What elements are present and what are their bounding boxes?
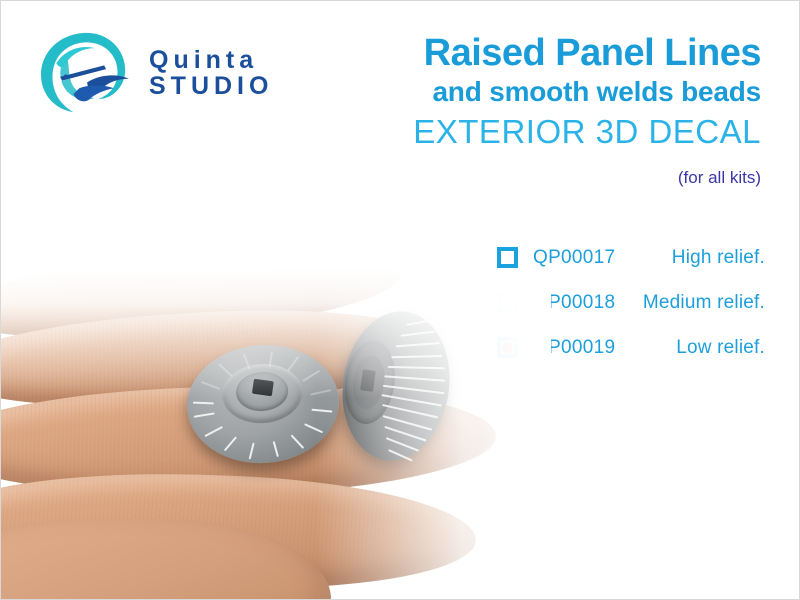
variant-checkbox[interactable]	[497, 292, 518, 313]
quinta-q-swoosh-logo	[37, 29, 133, 117]
brand-logo: Quinta STUDIO	[37, 29, 273, 117]
brand-line-1: Quinta	[149, 47, 273, 73]
product-relief-label: High relief.	[628, 247, 765, 269]
title-line-3: EXTERIOR 3D DECAL	[413, 109, 761, 155]
variant-checkbox-selected[interactable]	[497, 337, 518, 358]
brand-line-2: STUDIO	[149, 73, 273, 99]
wheel-flat-light-grey	[183, 340, 343, 468]
product-variant-list: QP00017 High relief. QP00018 Medium reli…	[497, 244, 765, 379]
title-line-2: and smooth welds beads	[413, 75, 761, 109]
product-code: QP00017	[533, 247, 628, 269]
product-relief-label: Low relief.	[628, 337, 765, 359]
product-row[interactable]: QP00018 Medium relief.	[497, 289, 765, 316]
product-code: QP00019	[533, 337, 628, 359]
product-code: QP00018	[533, 292, 628, 314]
product-card: Quinta STUDIO Raised Panel Lines and smo…	[0, 0, 800, 600]
headings-block: Raised Panel Lines and smooth welds bead…	[413, 31, 761, 189]
brand-wordmark: Quinta STUDIO	[149, 47, 273, 99]
title-line-1: Raised Panel Lines	[413, 31, 761, 75]
tread-line	[193, 401, 214, 404]
wheel-upright-dark-grey	[333, 304, 459, 467]
product-row[interactable]: QP00019 Low relief.	[497, 334, 765, 361]
product-photo	[0, 269, 551, 600]
product-relief-label: Medium relief.	[628, 292, 765, 314]
subnote: (for all kits)	[413, 167, 761, 189]
variant-checkbox[interactable]	[497, 247, 518, 268]
product-row[interactable]: QP00017 High relief.	[497, 244, 765, 271]
